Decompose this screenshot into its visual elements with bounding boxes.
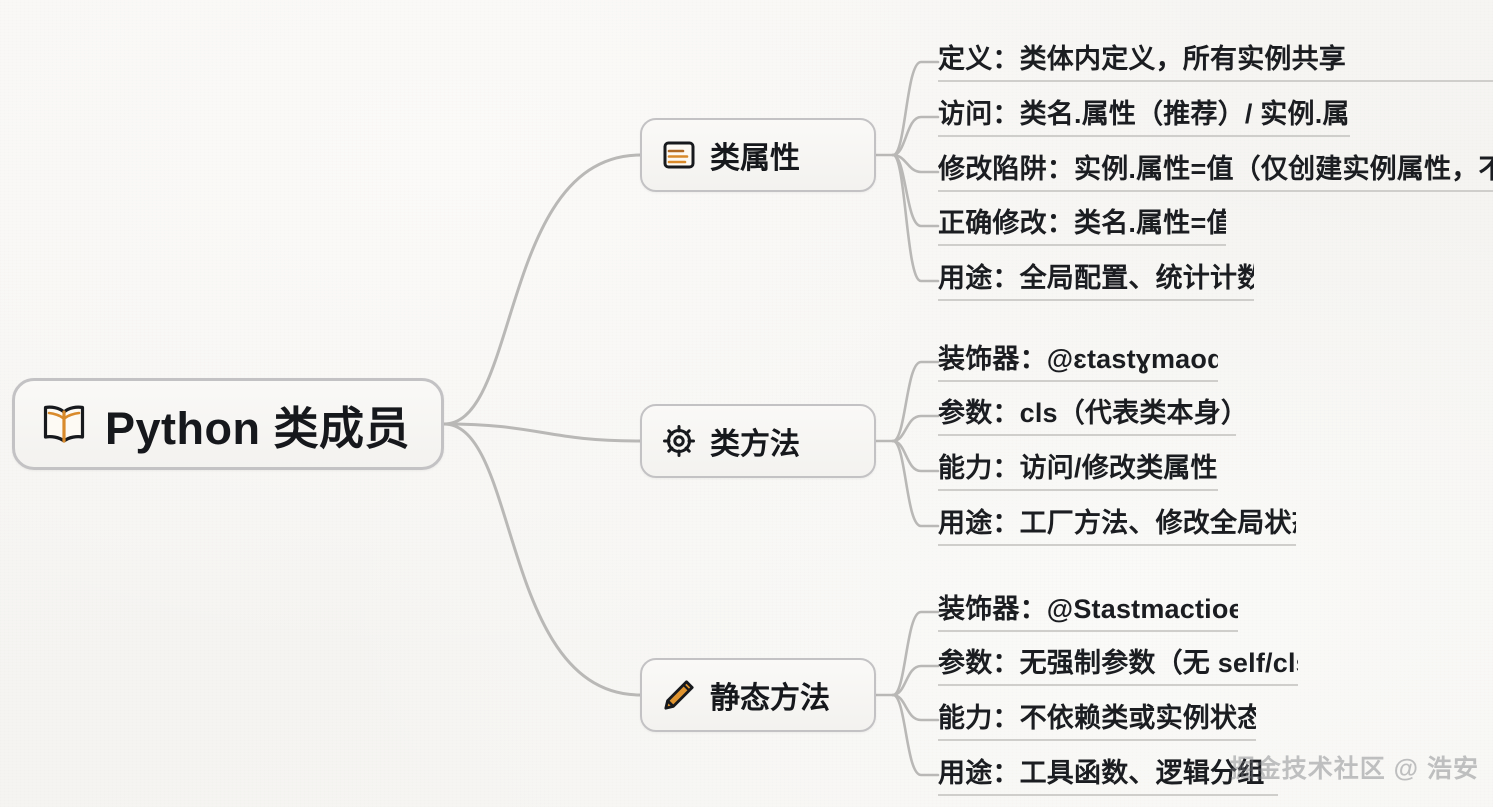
leaf-item[interactable]: 用途：工厂方法、修改全局状态 — [938, 502, 1296, 546]
leaf-item[interactable]: 定义：类体内定义，所有实例共享 — [938, 38, 1493, 82]
leaf-link-1-2 — [893, 117, 938, 155]
link-root-to-class-method — [444, 424, 640, 441]
leaf-link-1-3 — [893, 155, 938, 172]
gear-target-icon — [662, 424, 696, 458]
leaf-item[interactable]: 参数：cls（代表类本身） — [938, 392, 1236, 436]
leaf-text: 参数：cls（代表类本身） — [938, 400, 1236, 427]
leaf-link-1-5 — [893, 155, 938, 281]
leaf-link-2-3 — [893, 441, 938, 471]
leaf-text: 修改陷阱：实例.属性=值（仅创建实例属性，不修改类属性） — [938, 156, 1493, 183]
leaf-link-2-2 — [893, 416, 938, 441]
leaf-text: 用途：工厂方法、修改全局状态 — [938, 510, 1296, 537]
leaf-item[interactable]: 访问：类名.属性（推荐）/ 实例.属性 — [938, 93, 1350, 137]
leaf-link-3-4 — [893, 695, 938, 775]
branch-label-static-method: 静态方法 — [710, 673, 830, 717]
leaf-text: 用途：全局配置、统计计数 — [938, 265, 1254, 292]
branch-node-class-attribute[interactable]: 类属性 — [640, 118, 876, 192]
leaf-text: 正确修改：类名.属性=值 — [938, 210, 1226, 237]
link-root-to-class-attribute — [444, 155, 640, 424]
root-node[interactable]: Python 类成员 — [12, 378, 444, 470]
branch-node-static-method[interactable]: 静态方法 — [640, 658, 876, 732]
pencil-icon — [662, 678, 696, 712]
leaf-item[interactable]: 能力：访问/修改类属性 — [938, 447, 1218, 491]
leaf-text: 能力：不依赖类或实例状态 — [938, 705, 1256, 732]
leaf-link-3-3 — [893, 695, 938, 720]
leaf-text: 用途：工具函数、逻辑分组 — [938, 760, 1264, 787]
leaf-text: 定义：类体内定义，所有实例共享 — [938, 46, 1346, 73]
branch-label-class-attribute: 类属性 — [710, 133, 800, 177]
link-root-to-static-method — [444, 424, 640, 695]
leaf-item[interactable]: 装饰器：@ɛtastɣmaod — [938, 338, 1218, 382]
leaf-link-1-4 — [893, 155, 938, 226]
leaf-link-2-1 — [893, 362, 938, 441]
leaf-text: 参数：无强制参数（无 self/cls） — [938, 650, 1298, 677]
root-node-label: Python 类成员 — [105, 392, 410, 457]
mindmap-canvas: Python 类成员 类属性 — [0, 0, 1493, 807]
leaf-item[interactable]: 用途：工具函数、逻辑分组 — [938, 752, 1278, 796]
leaf-item[interactable]: 装饰器：@Stastmactioe — [938, 588, 1238, 632]
leaf-text: 装饰器：@ɛtastɣmaod — [938, 346, 1218, 373]
leaf-link-2-4 — [893, 441, 938, 526]
leaf-text: 装饰器：@Stastmactioe — [938, 596, 1238, 623]
leaf-item[interactable]: 修改陷阱：实例.属性=值（仅创建实例属性，不修改类属性） — [938, 148, 1493, 192]
card-list-icon — [662, 138, 696, 172]
branch-label-class-method: 类方法 — [710, 419, 800, 463]
leaf-link-3-1 — [893, 612, 938, 695]
leaf-item[interactable]: 参数：无强制参数（无 self/cls） — [938, 642, 1298, 686]
open-book-icon — [41, 403, 87, 445]
leaf-item[interactable]: 能力：不依赖类或实例状态 — [938, 697, 1256, 741]
branch-node-class-method[interactable]: 类方法 — [640, 404, 876, 478]
leaf-link-1-1 — [893, 62, 938, 155]
leaf-text: 访问：类名.属性（推荐）/ 实例.属性 — [938, 101, 1350, 128]
leaf-text: 能力：访问/修改类属性 — [938, 455, 1218, 482]
leaf-item[interactable]: 用途：全局配置、统计计数 — [938, 257, 1254, 301]
leaf-link-3-2 — [893, 666, 938, 695]
leaf-item[interactable]: 正确修改：类名.属性=值 — [938, 202, 1226, 246]
